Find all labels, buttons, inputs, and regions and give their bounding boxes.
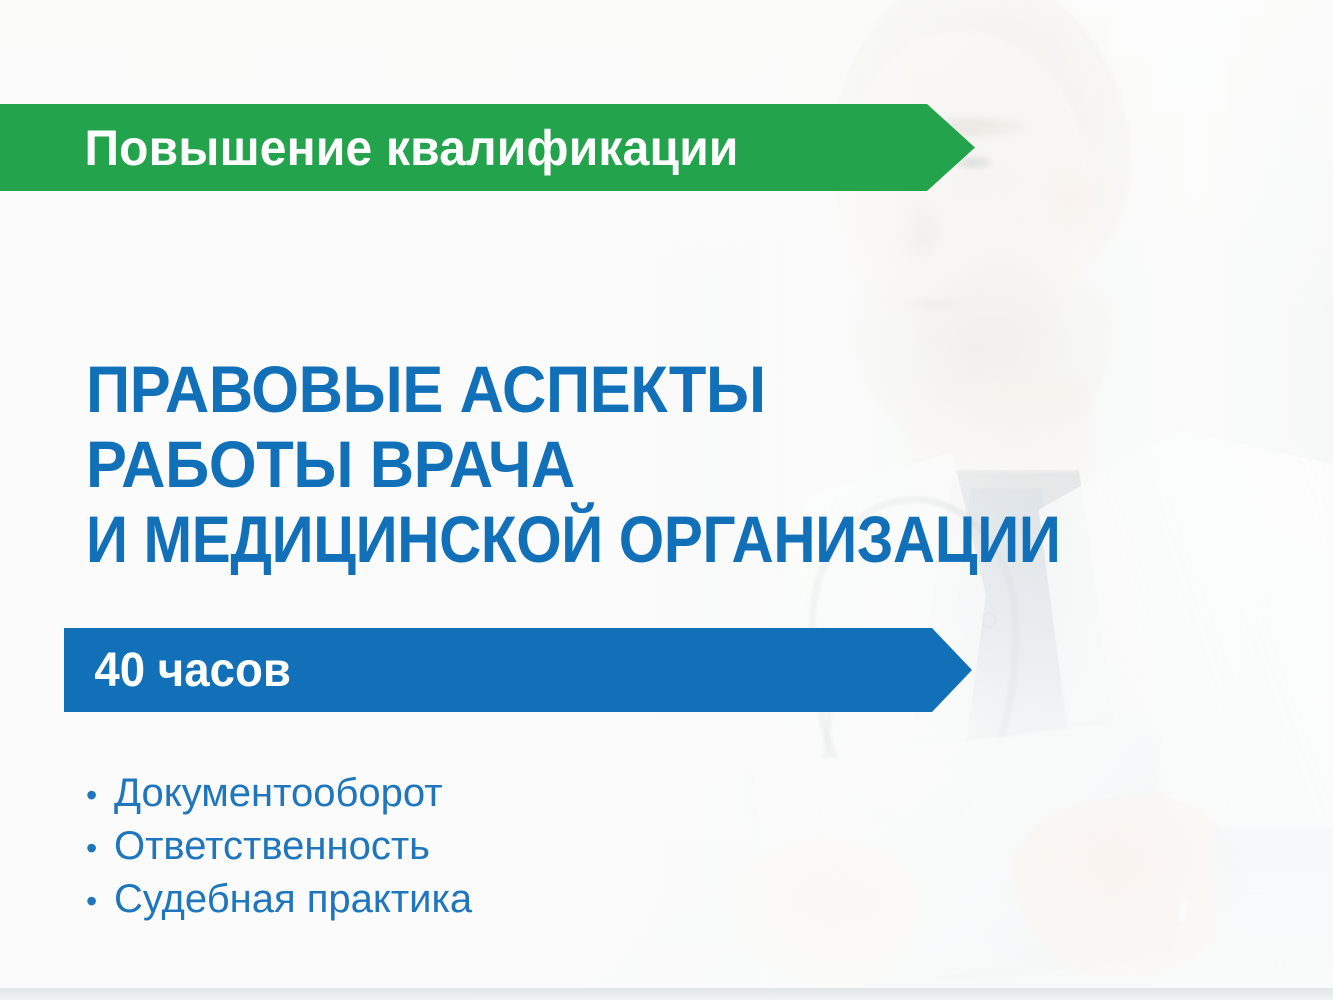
page-title-line-1: ПРАВОВЫЕ АСПЕКТЫ	[86, 352, 1221, 427]
topic-label: Судебная практика	[114, 874, 472, 925]
list-item: • Документооборот	[86, 768, 472, 821]
bullet-dot-icon: •	[86, 770, 114, 821]
topic-label: Документооборот	[114, 768, 443, 819]
course-promo-poster: Повышение квалификации ПРАВОВЫЕ АСПЕКТЫ …	[0, 0, 1333, 1000]
page-title-line-3: И МЕДИЦИНСКОЙ ОРГАНИЗАЦИИ	[86, 502, 1166, 577]
poster-content: Повышение квалификации ПРАВОВЫЕ АСПЕКТЫ …	[0, 0, 1333, 1000]
topic-label: Ответственность	[114, 821, 430, 872]
page-title-line-2: РАБОТЫ ВРАЧА	[86, 427, 1221, 502]
topics-list: • Документооборот • Ответственность • Су…	[86, 768, 472, 927]
duration-banner: 40 часов	[64, 628, 972, 712]
list-item: • Ответственность	[86, 821, 472, 874]
page-title: ПРАВОВЫЕ АСПЕКТЫ РАБОТЫ ВРАЧА И МЕДИЦИНС…	[86, 352, 1306, 577]
bullet-dot-icon: •	[86, 876, 114, 927]
duration-banner-label: 40 часов	[64, 643, 291, 698]
bullet-dot-icon: •	[86, 823, 114, 874]
qualification-banner-label: Повышение квалификации	[0, 119, 739, 177]
list-item: • Судебная практика	[86, 874, 472, 927]
qualification-banner: Повышение квалификации	[0, 104, 975, 191]
